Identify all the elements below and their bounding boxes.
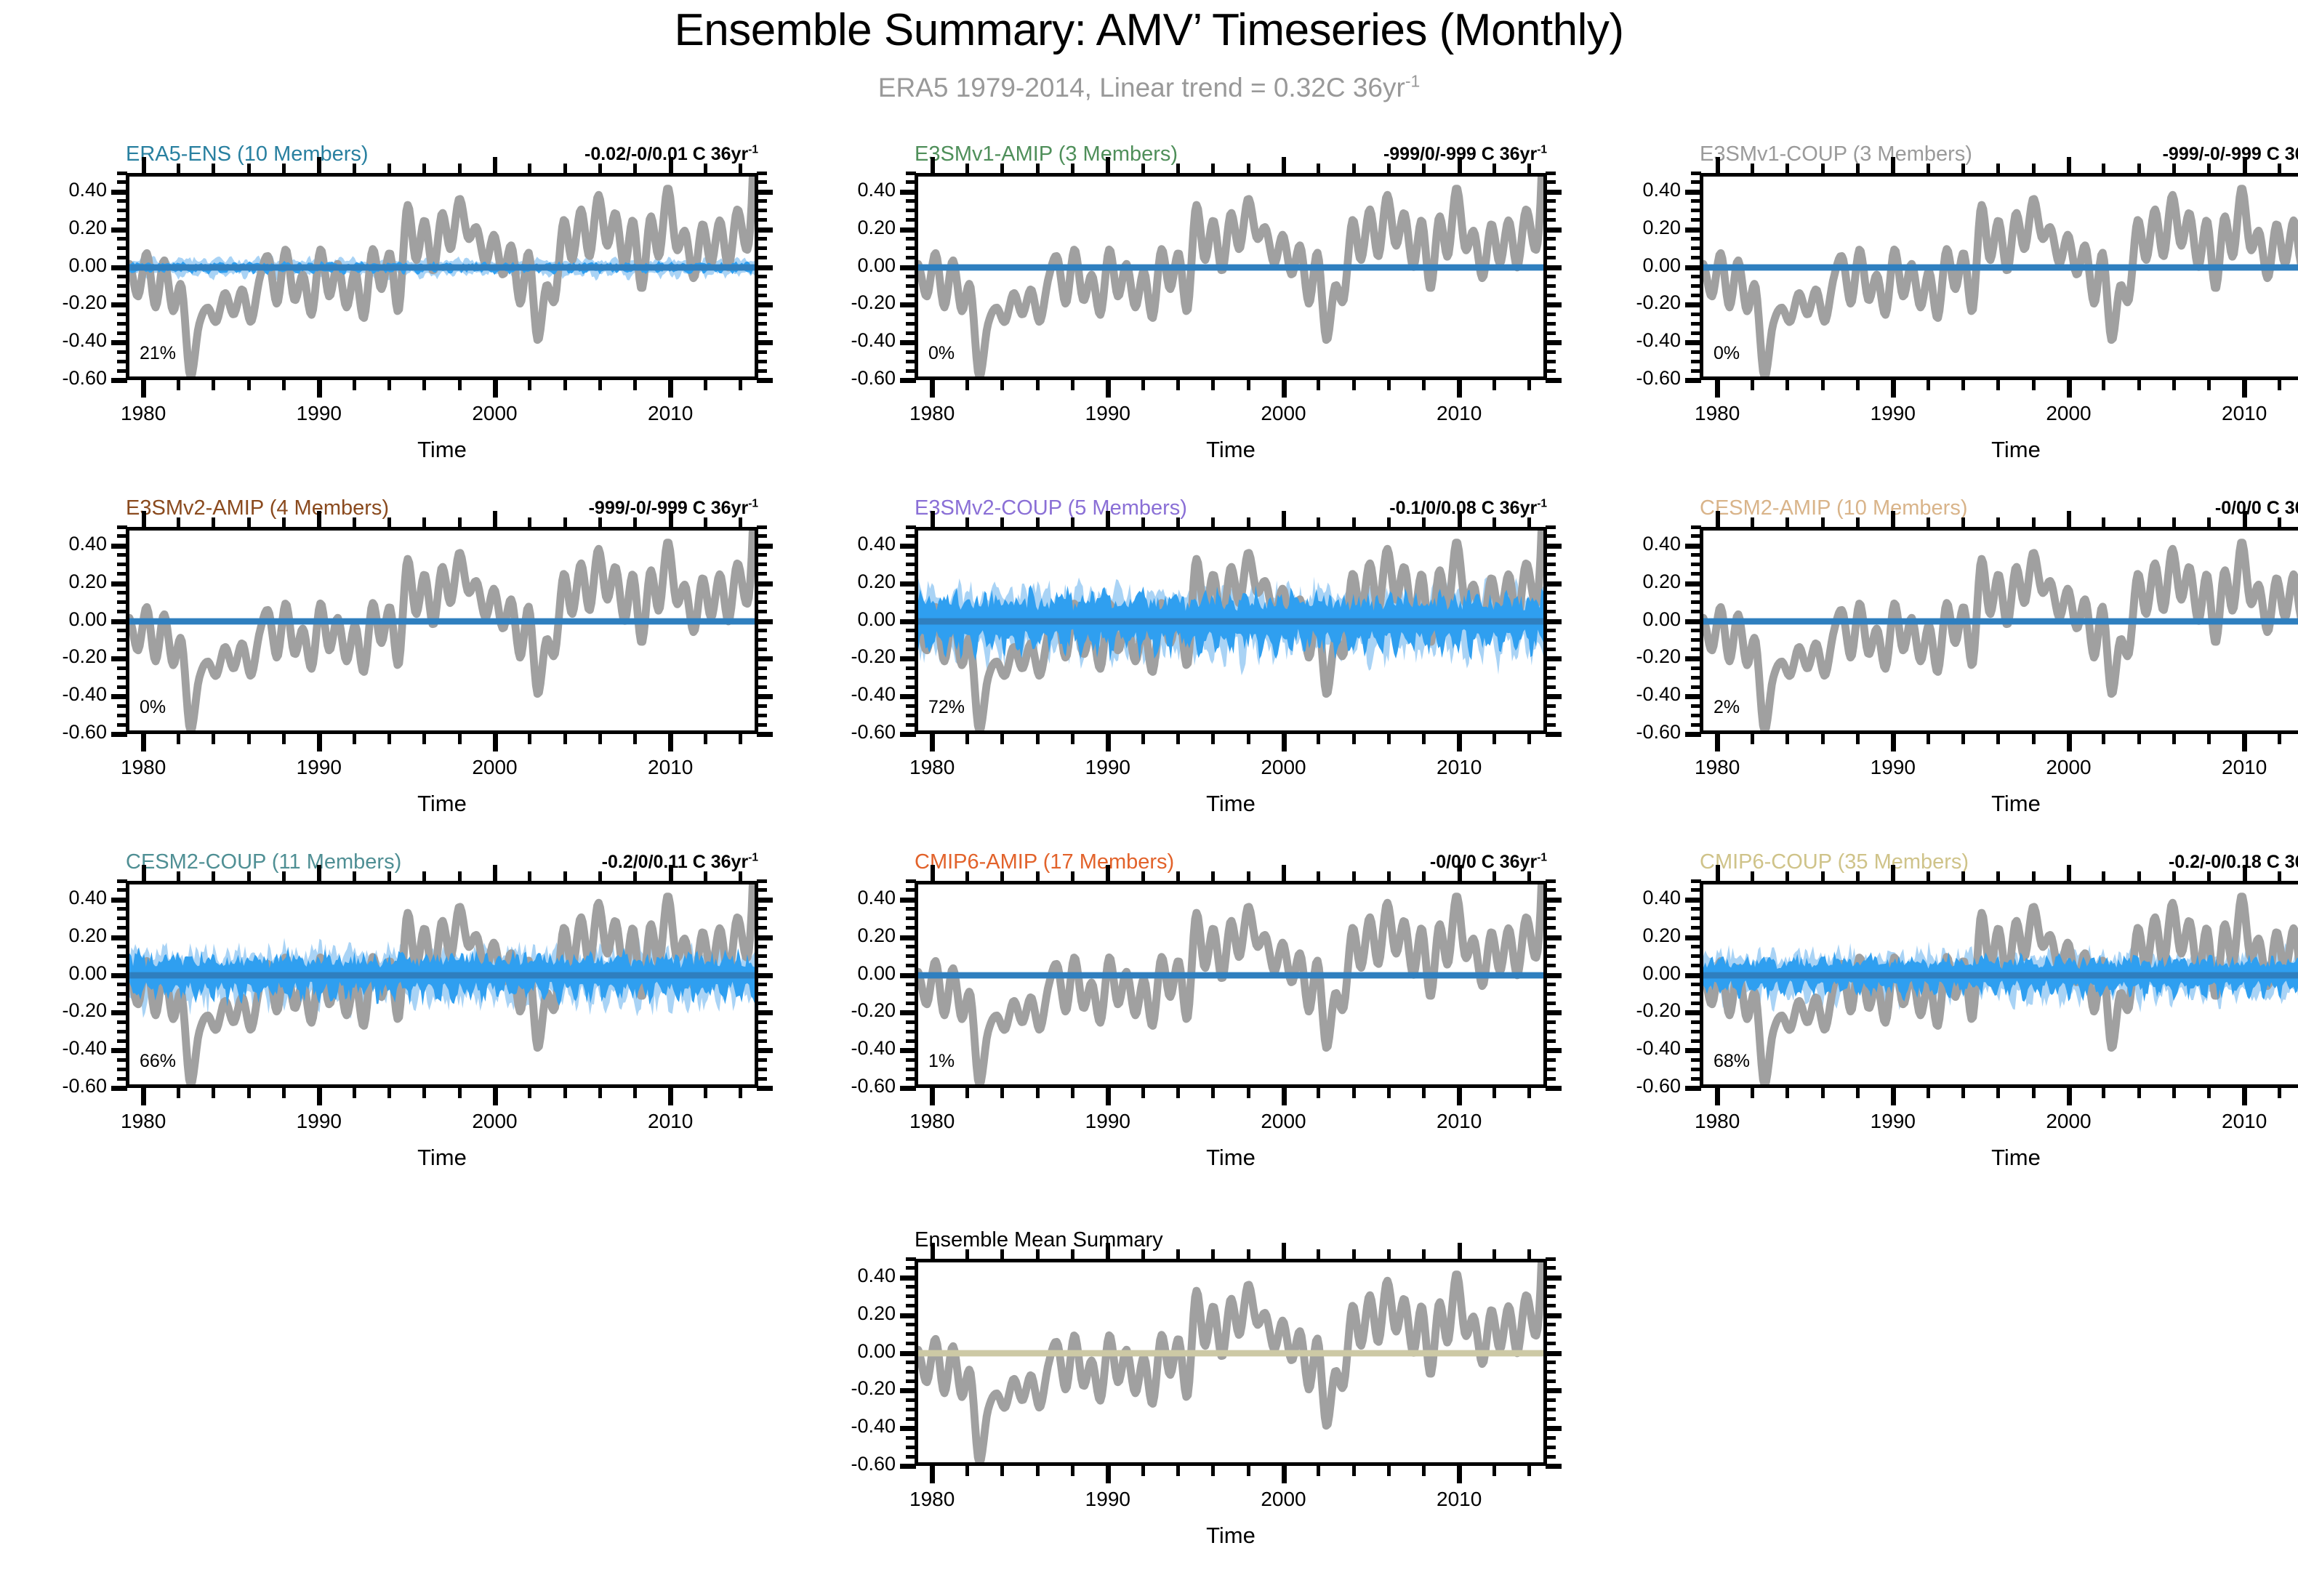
y-tick-right-minor <box>1546 676 1556 680</box>
x-tick-minor <box>212 380 215 390</box>
y-tick-minor <box>1691 714 1701 717</box>
x-tick-top <box>2067 157 2071 173</box>
x-tick-major <box>2067 380 2072 398</box>
x-tick-top <box>1317 1249 1320 1259</box>
x-tick-top <box>1527 164 1531 173</box>
y-tick-major <box>111 378 127 383</box>
x-tick-top <box>1527 1249 1531 1259</box>
x-tick-major <box>317 734 322 751</box>
y-tick-minor <box>906 1332 916 1336</box>
y-tick-minor <box>117 218 127 222</box>
x-tick-minor <box>2207 1088 2211 1098</box>
x-tick-top <box>1751 871 1754 881</box>
x-tick-minor <box>353 734 356 744</box>
y-tick-major <box>900 1313 916 1318</box>
y-tick-right-minor <box>757 676 767 680</box>
x-tick-minor <box>2278 1088 2281 1098</box>
x-tick-major <box>317 380 322 398</box>
x-tick-label: 1980 <box>874 402 990 425</box>
x-tick-top <box>669 511 673 527</box>
y-tick-label: 0.40 <box>40 533 107 555</box>
y-tick-right-minor <box>757 246 767 250</box>
x-tick-minor <box>177 734 180 744</box>
panel-trend-cesm2-coup: -0.2/0/0.11 C 36yr-1 <box>602 852 758 873</box>
y-tick-major <box>111 340 127 345</box>
y-tick-minor <box>117 284 127 288</box>
y-tick-right-minor <box>757 666 767 670</box>
y-tick-major <box>111 544 127 549</box>
y-tick-right-minor <box>1546 180 1556 184</box>
x-tick-minor <box>1422 734 1426 744</box>
y-tick-right <box>1546 732 1562 737</box>
x-tick-top <box>422 871 426 881</box>
x-tick-minor <box>598 734 602 744</box>
x-axis-title: Time <box>1700 791 2298 817</box>
y-tick-minor <box>1691 294 1701 297</box>
y-tick-minor <box>1691 888 1701 892</box>
x-tick-minor <box>1247 1466 1250 1476</box>
y-tick-right-minor <box>1546 714 1556 717</box>
y-tick-label: 0.00 <box>829 254 896 277</box>
x-tick-major <box>930 1466 935 1483</box>
x-tick-top <box>493 511 497 527</box>
y-tick-major <box>900 190 916 195</box>
y-tick-major <box>900 898 916 903</box>
x-tick-minor <box>1821 380 1825 390</box>
x-tick-minor <box>1422 380 1426 390</box>
y-tick-label: -0.20 <box>40 999 107 1022</box>
y-tick-minor <box>117 983 127 986</box>
y-tick-minor <box>1691 199 1701 203</box>
x-tick-minor <box>704 380 707 390</box>
y-tick-minor <box>1691 246 1701 250</box>
y-tick-minor <box>117 629 127 632</box>
x-tick-major <box>1282 1088 1287 1105</box>
y-tick-major <box>900 1351 916 1356</box>
y-tick-minor <box>906 180 916 184</box>
x-tick-top <box>2032 164 2036 173</box>
x-tick-top <box>1751 517 1754 527</box>
y-tick-major <box>111 898 127 903</box>
y-tick-right-minor <box>757 275 767 278</box>
y-tick-minor <box>906 563 916 566</box>
x-tick-minor <box>1247 734 1250 744</box>
y-tick-right <box>1546 302 1562 307</box>
x-tick-top <box>931 1243 935 1259</box>
x-tick-top <box>1317 164 1320 173</box>
y-tick-label: -0.40 <box>829 683 896 706</box>
y-tick-right <box>757 190 773 195</box>
y-tick-minor <box>906 1398 916 1402</box>
panel-trend-e3smv2-amip: -999/-0/-999 C 36yr-1 <box>589 498 758 519</box>
y-tick-minor <box>117 926 127 930</box>
y-tick-minor <box>1691 629 1701 632</box>
x-tick-top <box>1211 871 1215 881</box>
x-tick-minor <box>704 1088 707 1098</box>
x-tick-minor <box>563 734 567 744</box>
x-tick-minor <box>633 1088 637 1098</box>
plot-svg-cesm2-amip <box>1703 531 2298 730</box>
x-tick-minor <box>1352 380 1356 390</box>
y-tick-right-minor <box>757 218 767 222</box>
x-tick-top <box>1141 871 1145 881</box>
y-tick-right <box>1546 694 1562 699</box>
plot-svg-cmip6-coup <box>1703 884 2298 1084</box>
y-tick-minor <box>1691 172 1701 175</box>
y-tick-minor <box>1691 331 1701 335</box>
y-tick-major <box>900 1464 916 1469</box>
trend-text: -0/0/0 C 36yr <box>2215 498 2298 518</box>
y-tick-minor <box>906 534 916 538</box>
x-tick-top <box>1247 164 1250 173</box>
y-tick-minor <box>906 600 916 604</box>
x-tick-top <box>212 871 215 881</box>
y-tick-right-minor <box>757 284 767 288</box>
x-tick-label: 2000 <box>1226 756 1342 779</box>
x-tick-major <box>1715 1088 1720 1105</box>
x-tick-label: 2000 <box>437 756 553 779</box>
x-tick-minor <box>1996 734 2000 744</box>
plot-area-ensemble-mean-summary <box>915 1259 1547 1466</box>
x-tick-top <box>1856 164 1860 173</box>
x-tick-minor <box>1785 734 1789 744</box>
y-tick-right-minor <box>1546 629 1556 632</box>
y-tick-minor <box>1691 676 1701 680</box>
y-tick-label: 0.40 <box>829 887 896 909</box>
plot-area-e3smv2-coup: 72% <box>915 527 1547 734</box>
y-tick-label: 0.00 <box>1614 608 1681 631</box>
y-tick-right-minor <box>1546 1332 1556 1336</box>
y-tick-right <box>1546 544 1562 549</box>
x-tick-top <box>1751 164 1754 173</box>
y-tick-minor <box>1691 218 1701 222</box>
y-tick-minor <box>906 553 916 557</box>
y-tick-minor <box>1691 322 1701 326</box>
y-tick-right <box>1546 1464 1562 1469</box>
x-tick-minor <box>965 734 969 744</box>
y-tick-label: 0.40 <box>40 179 107 201</box>
x-tick-top <box>1387 1249 1391 1259</box>
x-tick-label: 1990 <box>1835 1110 1951 1133</box>
x-tick-top <box>1000 164 1004 173</box>
x-axis-title: Time <box>915 1145 1547 1171</box>
x-tick-label: 2010 <box>1401 756 1517 779</box>
x-tick-minor <box>965 1466 969 1476</box>
y-tick-minor <box>1691 284 1701 288</box>
x-tick-minor <box>2207 380 2211 390</box>
x-tick-top <box>1352 164 1356 173</box>
x-tick-top <box>739 517 742 527</box>
y-tick-major <box>900 1086 916 1091</box>
panel-title-e3smv2-amip: E3SMv2-AMIP (4 Members) <box>126 496 389 520</box>
x-tick-top <box>177 517 180 527</box>
y-tick-minor <box>1691 648 1701 651</box>
x-tick-top <box>458 871 462 881</box>
y-tick-right-minor <box>757 648 767 651</box>
x-tick-minor <box>2102 734 2105 744</box>
trend-exponent: -1 <box>1537 498 1547 510</box>
y-tick-right-minor <box>757 685 767 689</box>
y-tick-major <box>111 732 127 737</box>
y-tick-minor <box>117 945 127 948</box>
x-tick-top <box>1996 517 2000 527</box>
x-tick-minor <box>1352 1466 1356 1476</box>
x-tick-minor <box>353 1088 356 1098</box>
y-tick-right-minor <box>757 209 767 212</box>
y-tick-right <box>757 935 773 940</box>
y-tick-right-minor <box>1546 369 1556 373</box>
x-tick-label: 2010 <box>1401 1488 1517 1511</box>
y-tick-right-minor <box>757 954 767 958</box>
x-tick-top <box>1493 164 1496 173</box>
x-tick-minor <box>528 734 531 744</box>
panel-trend-e3smv1-amip: -999/0/-999 C 36yr-1 <box>1383 144 1547 165</box>
y-tick-minor <box>1691 1058 1701 1062</box>
x-tick-minor <box>1176 1088 1180 1098</box>
x-tick-label: 2000 <box>437 402 553 425</box>
y-tick-minor <box>906 1077 916 1081</box>
y-tick-minor <box>1691 638 1701 642</box>
x-tick-minor <box>282 380 286 390</box>
x-tick-label: 2010 <box>2186 756 2298 779</box>
x-tick-top <box>2278 871 2281 881</box>
figure-subtitle: ERA5 1979-2014, Linear trend = 0.32C 36y… <box>0 73 2298 103</box>
x-tick-major <box>493 734 498 751</box>
x-tick-top <box>1527 517 1531 527</box>
x-tick-minor <box>965 380 969 390</box>
x-tick-minor <box>1527 380 1531 390</box>
y-tick-major <box>111 581 127 587</box>
plot-area-cmip6-coup: 68% <box>1700 881 2298 1088</box>
x-tick-minor <box>1317 1088 1320 1098</box>
y-tick-minor <box>117 723 127 727</box>
y-tick-minor <box>117 369 127 373</box>
x-tick-top <box>1961 871 1965 881</box>
x-tick-top <box>1071 871 1074 881</box>
x-tick-minor <box>1751 1088 1754 1098</box>
y-tick-right-minor <box>757 610 767 613</box>
x-tick-minor <box>1493 1088 1496 1098</box>
y-tick-right-minor <box>757 534 767 538</box>
trend-text: -0.02/-0/0.01 C 36yr <box>584 144 748 164</box>
x-tick-minor <box>1317 1466 1320 1476</box>
x-tick-minor <box>1036 1088 1040 1098</box>
x-tick-minor <box>422 734 426 744</box>
y-tick-label: 0.00 <box>1614 962 1681 985</box>
x-tick-top <box>317 511 321 527</box>
y-tick-minor <box>1691 534 1701 538</box>
x-tick-label: 1990 <box>1835 402 1951 425</box>
x-tick-label: 1980 <box>1659 1110 1775 1133</box>
y-tick-major <box>900 581 916 587</box>
coverage-percent-e3smv1-coup: 0% <box>1714 343 1740 364</box>
panel-cesm2-coup: CESM2-COUP (11 Members)-0.2/0/0.11 C 36y… <box>40 850 803 1204</box>
x-tick-minor <box>1000 1466 1004 1476</box>
y-tick-minor <box>117 294 127 297</box>
y-tick-right-minor <box>757 879 767 883</box>
y-tick-right <box>757 265 773 270</box>
x-tick-minor <box>1036 380 1040 390</box>
y-tick-label: -0.60 <box>829 1453 896 1475</box>
x-tick-top <box>1821 871 1825 881</box>
x-tick-top <box>1317 517 1320 527</box>
y-tick-minor <box>117 313 127 316</box>
x-tick-major <box>2242 380 2247 398</box>
y-tick-minor <box>1691 275 1701 278</box>
x-tick-minor <box>387 380 391 390</box>
y-tick-right-minor <box>757 322 767 326</box>
panel-e3smv1-amip: E3SMv1-AMIP (3 Members)-999/0/-999 C 36y… <box>829 142 1592 496</box>
y-tick-major <box>900 302 916 307</box>
y-tick-minor <box>906 1446 916 1449</box>
y-tick-minor <box>117 907 127 911</box>
x-tick-minor <box>598 380 602 390</box>
y-tick-label: -0.60 <box>1614 721 1681 743</box>
y-tick-minor <box>1691 945 1701 948</box>
y-tick-minor <box>1691 237 1701 241</box>
x-tick-minor <box>2137 1088 2141 1098</box>
y-tick-major <box>1685 1048 1701 1053</box>
x-tick-label: 1990 <box>261 1110 377 1133</box>
y-tick-label: 0.40 <box>40 887 107 909</box>
trend-text: -0.1/0/0.08 C 36yr <box>1389 498 1537 518</box>
y-tick-right-minor <box>1546 1068 1556 1071</box>
y-tick-minor <box>906 294 916 297</box>
panel-trend-cmip6-coup: -0.2/-0/0.18 C 36yr-1 <box>2169 852 2298 873</box>
y-tick-right <box>757 544 773 549</box>
y-tick-label: -0.60 <box>829 721 896 743</box>
x-tick-top <box>1716 157 1720 173</box>
x-tick-top <box>2102 164 2105 173</box>
x-tick-top <box>1036 164 1040 173</box>
y-tick-right-minor <box>757 563 767 566</box>
x-tick-minor <box>739 380 742 390</box>
y-tick-minor <box>1691 992 1701 996</box>
y-tick-minor <box>906 1370 916 1374</box>
y-tick-right-minor <box>1546 1446 1556 1449</box>
y-tick-major <box>1685 581 1701 587</box>
y-tick-minor <box>1691 313 1701 316</box>
y-tick-minor <box>906 964 916 967</box>
y-tick-right-minor <box>1546 1285 1556 1289</box>
x-tick-top <box>1176 164 1180 173</box>
x-tick-minor <box>2278 734 2281 744</box>
x-tick-label: 2010 <box>612 1110 728 1133</box>
y-tick-label: 0.00 <box>40 608 107 631</box>
x-tick-top <box>1247 1249 1250 1259</box>
coverage-percent-cmip6-amip: 1% <box>928 1051 955 1072</box>
y-tick-right-minor <box>1546 572 1556 576</box>
y-tick-right-minor <box>1546 983 1556 986</box>
figure-subtitle-exponent: -1 <box>1405 72 1420 91</box>
x-tick-top <box>1141 517 1145 527</box>
y-tick-label: -0.40 <box>40 329 107 352</box>
x-tick-minor <box>422 1088 426 1098</box>
y-tick-major <box>1685 378 1701 383</box>
y-tick-right-minor <box>1546 294 1556 297</box>
coverage-percent-e3smv2-amip: 0% <box>140 697 166 718</box>
plot-svg-e3smv2-coup <box>918 531 1543 730</box>
x-tick-top <box>282 517 286 527</box>
y-tick-right <box>757 1048 773 1053</box>
panel-e3smv2-amip: E3SMv2-AMIP (4 Members)-999/-0/-999 C 36… <box>40 496 803 850</box>
x-tick-top <box>1071 164 1074 173</box>
y-tick-minor <box>117 676 127 680</box>
x-tick-label: 1990 <box>1050 756 1166 779</box>
x-tick-minor <box>1071 734 1074 744</box>
y-tick-right-minor <box>1546 600 1556 604</box>
panel-ensemble-mean-summary: Ensemble Mean Summary0.400.200.00-0.20-0… <box>829 1228 1592 1582</box>
trend-exponent: -1 <box>1537 852 1547 864</box>
x-tick-top <box>1211 517 1215 527</box>
x-tick-top <box>1458 1243 1462 1259</box>
y-tick-minor <box>1691 1068 1701 1071</box>
x-tick-top <box>2207 517 2211 527</box>
y-tick-right-minor <box>1546 954 1556 958</box>
y-tick-major <box>900 1426 916 1431</box>
x-tick-top <box>2172 517 2176 527</box>
y-tick-minor <box>906 331 916 335</box>
x-tick-minor <box>1141 380 1145 390</box>
y-tick-label: 0.40 <box>1614 533 1681 555</box>
y-tick-right-minor <box>1546 1030 1556 1033</box>
x-tick-top <box>563 517 567 527</box>
y-tick-label: 0.20 <box>829 217 896 239</box>
y-tick-label: 0.20 <box>1614 571 1681 593</box>
y-tick-minor <box>117 534 127 538</box>
y-tick-label: -0.60 <box>40 367 107 390</box>
x-tick-minor <box>177 1088 180 1098</box>
y-tick-right-minor <box>1546 1077 1556 1081</box>
panel-title-cmip6-amip: CMIP6-AMIP (17 Members) <box>915 850 1174 874</box>
x-tick-minor <box>1785 380 1789 390</box>
x-tick-major <box>1106 1088 1111 1105</box>
y-tick-minor <box>1691 907 1701 911</box>
x-tick-top <box>965 1249 969 1259</box>
x-tick-top <box>1716 865 1720 881</box>
y-tick-major <box>900 1048 916 1053</box>
x-tick-top <box>1716 511 1720 527</box>
y-tick-right-minor <box>1546 704 1556 708</box>
y-tick-minor <box>117 1058 127 1062</box>
x-tick-minor <box>1821 1088 1825 1098</box>
x-tick-top <box>1422 517 1426 527</box>
y-tick-minor <box>1691 350 1701 354</box>
x-tick-minor <box>2032 380 2036 390</box>
x-tick-minor <box>739 1088 742 1098</box>
x-tick-top <box>2137 164 2141 173</box>
x-tick-minor <box>1751 380 1754 390</box>
y-tick-minor <box>117 553 127 557</box>
x-tick-label: 1980 <box>85 756 201 779</box>
coverage-percent-era5-ens: 21% <box>140 343 176 364</box>
plot-svg-e3smv1-amip <box>918 177 1543 376</box>
x-tick-top <box>1141 1249 1145 1259</box>
y-tick-minor <box>906 275 916 278</box>
y-tick-right-minor <box>757 572 767 576</box>
y-tick-right <box>757 656 773 661</box>
y-tick-right-minor <box>1546 350 1556 354</box>
y-tick-right-minor <box>757 945 767 948</box>
x-tick-minor <box>2032 734 2036 744</box>
x-tick-top <box>1927 871 1930 881</box>
y-tick-minor <box>1691 1020 1701 1024</box>
y-tick-right-minor <box>1546 907 1556 911</box>
x-tick-label: 2010 <box>612 756 728 779</box>
y-tick-minor <box>906 1294 916 1298</box>
x-tick-top <box>1422 1249 1426 1259</box>
y-tick-minor <box>1691 954 1701 958</box>
